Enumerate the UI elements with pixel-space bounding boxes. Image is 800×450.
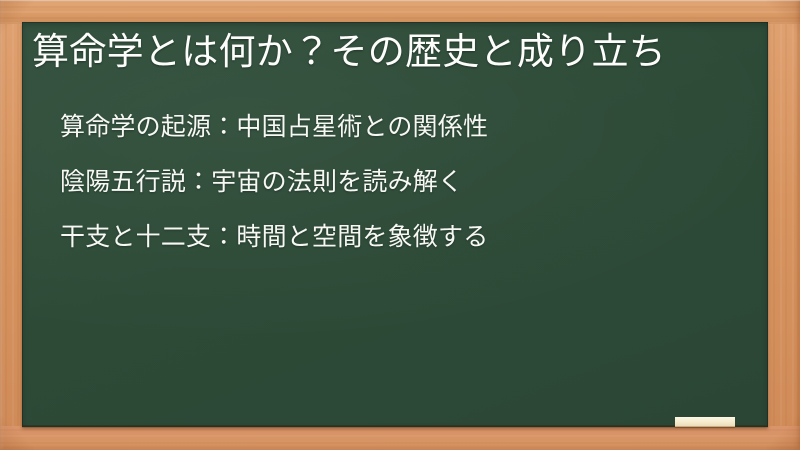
board-bottom-shadow (22, 425, 768, 428)
bullet-item-2: 陰陽五行説：宇宙の法則を読み解く (60, 155, 760, 210)
chalkboard-content: 算命学とは何か？その歴史と成り立ち 算命学の起源：中国占星術との関係性 陰陽五行… (22, 22, 768, 427)
frame-rail-bottom (0, 426, 800, 450)
chalk-stick-shadow (675, 426, 735, 428)
chalkboard-surface: 算命学とは何か？その歴史と成り立ち 算命学の起源：中国占星術との関係性 陰陽五行… (22, 22, 768, 427)
frame-rail-top (0, 0, 800, 24)
bullet-list: 算命学の起源：中国占星術との関係性 陰陽五行説：宇宙の法則を読み解く 干支と十二… (60, 100, 760, 265)
bullet-item-3: 干支と十二支：時間と空間を象徴する (60, 210, 760, 265)
slide-title: 算命学とは何か？その歴史と成り立ち (32, 30, 758, 74)
bullet-item-1: 算命学の起源：中国占星術との関係性 (60, 100, 760, 155)
chalkboard-slide: 算命学とは何か？その歴史と成り立ち 算命学の起源：中国占星術との関係性 陰陽五行… (0, 0, 800, 450)
